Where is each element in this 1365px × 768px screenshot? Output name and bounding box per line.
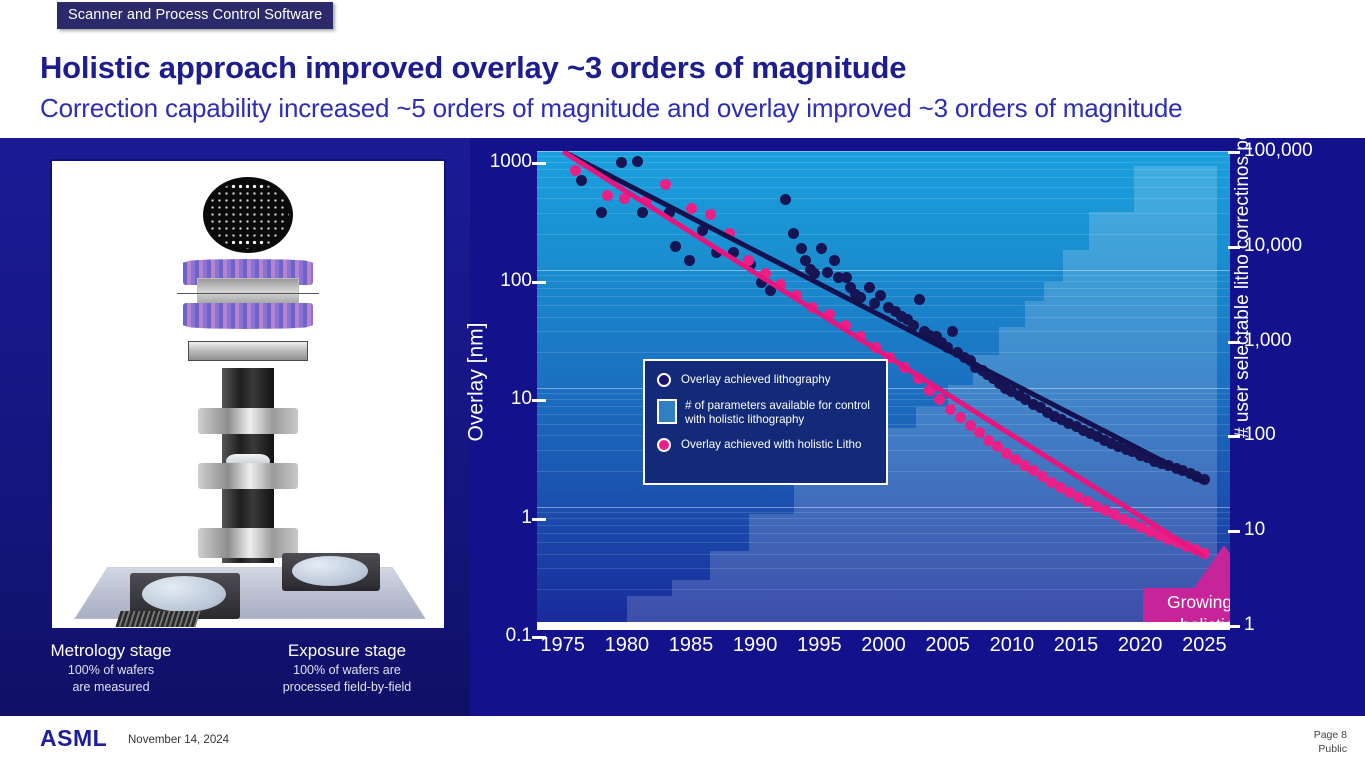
wafer-map-icon [203, 177, 293, 253]
caption-line2: are measured [36, 680, 186, 695]
legend-label: # of parameters available for control wi… [685, 399, 874, 426]
lens-collar-2 [198, 463, 298, 489]
scatter-point [875, 290, 886, 301]
x-axis-tick-label: 2000 [861, 634, 906, 657]
scatter-point [829, 255, 840, 266]
step-bar [794, 485, 839, 625]
callout-line1: Growing importance of [1143, 591, 1230, 614]
gridline [537, 187, 1230, 188]
x-axis-tick-label: 2015 [1054, 634, 1099, 657]
y-axis-tick-mark [532, 162, 546, 165]
y-axis-tick-mark [532, 281, 546, 284]
x-axis-tick-label: 1975 [540, 634, 585, 657]
lithography-system-illustration [50, 159, 446, 630]
scatter-point [596, 207, 607, 218]
footer-meta: Page 8 Public [1314, 728, 1347, 756]
scatter-point [705, 209, 716, 220]
step-bar [672, 580, 711, 625]
y2-axis-tick-label: 10 [1244, 519, 1265, 541]
scatter-point [684, 255, 695, 266]
scatter-point [914, 294, 925, 305]
scatter-point [616, 157, 627, 168]
scatter-point [576, 175, 587, 186]
wafer-disk-metrology [142, 576, 226, 612]
gridline [537, 151, 1230, 152]
caption-title: Exposure stage [258, 641, 436, 661]
slide-body: Metrology stage 100% of wafers are measu… [0, 138, 1365, 716]
step-bar [627, 596, 672, 625]
scatter-point [788, 228, 799, 239]
scatter-point [796, 243, 807, 254]
callout-growing-importance: Growing importance of holistic Lithograp… [1143, 588, 1230, 625]
chart-plot-area: Growing importance of holistic Lithograp… [537, 151, 1230, 625]
legend-label: Overlay achieved with holistic Litho [681, 438, 861, 452]
y-axis-tick-mark [532, 399, 546, 402]
y-axis-tick-label: 1 [474, 507, 532, 529]
lens-collar-1 [198, 408, 298, 434]
step-bar [999, 327, 1025, 625]
y-axis-tick-label: 1000 [474, 151, 532, 173]
stage-cable [115, 611, 200, 627]
exposure-stage-chuck [282, 553, 380, 591]
scatter-point [602, 190, 613, 201]
asml-logo: ASML [40, 725, 107, 752]
scatter-point [632, 156, 643, 167]
caption-line2: processed field-by-field [258, 680, 436, 695]
legend-label: Overlay achieved lithography [681, 373, 831, 387]
projection-lens-column [196, 368, 300, 563]
x-axis-tick-label: 1995 [797, 634, 842, 657]
scatter-point [945, 404, 956, 415]
legend-marker-square-icon [657, 399, 677, 424]
page-title: Holistic approach improved overlay ~3 or… [40, 50, 906, 86]
legend-item-overlay-holistic: Overlay achieved with holistic Litho [657, 438, 874, 452]
scatter-point [947, 326, 958, 337]
y-axis-right-label: # user selectable litho correctinos per … [1232, 138, 1254, 438]
reticle-bar [188, 341, 308, 361]
page-subtitle: Correction capability increased ~5 order… [40, 93, 1182, 124]
gridline [537, 169, 1230, 170]
optics-actuator-element [183, 259, 313, 329]
page-number: Page 8 [1314, 728, 1347, 742]
step-bar [710, 551, 749, 625]
caption-line1: 100% of wafers are [258, 663, 436, 678]
step-bar [973, 355, 999, 625]
scatter-point [660, 179, 671, 190]
x-axis-tick-label: 2005 [925, 634, 970, 657]
slide-header: Scanner and Process Control Software Hol… [0, 0, 1365, 138]
step-bar [1063, 250, 1089, 625]
optical-axis-line [177, 293, 319, 294]
wafer-disk-exposure [292, 556, 368, 586]
caption-line1: 100% of wafers [36, 663, 186, 678]
y2-axis-tick-label: 100,000 [1244, 140, 1313, 162]
y-axis-tick-label: 0.1 [474, 625, 532, 647]
x-axis-tick-label: 1980 [605, 634, 650, 657]
caption-title: Metrology stage [36, 641, 186, 661]
x-axis-tick-label: 2025 [1182, 634, 1227, 657]
overlay-trend-chart: Growing importance of holistic Lithograp… [470, 138, 1365, 716]
caption-metrology-stage: Metrology stage 100% of wafers are measu… [36, 641, 186, 695]
footer-date: November 14, 2024 [128, 734, 229, 746]
scatter-point [780, 194, 791, 205]
classification-label: Public [1314, 742, 1347, 756]
legend-marker-circle-pink-icon [657, 438, 671, 452]
illustration-panel: Metrology stage 100% of wafers are measu… [0, 138, 470, 716]
actuator-band-bottom [183, 303, 313, 329]
section-tag: Scanner and Process Control Software [57, 2, 333, 29]
step-bar [916, 407, 948, 625]
x-axis-tick-label: 1990 [733, 634, 778, 657]
y2-axis-tick-label: 1 [1244, 614, 1255, 636]
step-bar [1089, 212, 1134, 625]
legend-marker-circle-navy-icon [657, 373, 671, 387]
callout-arrow-icon [1192, 545, 1230, 591]
gridline [537, 177, 1230, 178]
x-axis-line [537, 622, 1230, 630]
scatter-point [822, 267, 833, 278]
y2-axis-tick-mark [1228, 625, 1240, 628]
scatter-point [670, 241, 681, 252]
y2-axis-tick-mark [1228, 530, 1240, 533]
chart-legend: Overlay achieved lithography # of parame… [643, 359, 888, 485]
scatter-point [841, 272, 852, 283]
scatter-point [637, 207, 648, 218]
caption-exposure-stage: Exposure stage 100% of wafers are proces… [258, 641, 436, 695]
scatter-point [816, 243, 827, 254]
y-axis-tick-label: 100 [474, 270, 532, 292]
legend-item-overlay-lithography: Overlay achieved lithography [657, 373, 874, 387]
step-bar [749, 514, 794, 625]
x-axis-tick-label: 2020 [1118, 634, 1163, 657]
x-axis-tick-label: 2010 [990, 634, 1035, 657]
y-axis-left-label: Overlay [nm] [465, 322, 489, 441]
scatter-point [864, 282, 875, 293]
slide-footer: ASML November 14, 2024 Page 8 Public [0, 716, 1365, 768]
legend-item-parameters: # of parameters available for control wi… [657, 399, 874, 426]
x-axis-tick-label: 1985 [669, 634, 714, 657]
y-axis-tick-mark [532, 518, 546, 521]
